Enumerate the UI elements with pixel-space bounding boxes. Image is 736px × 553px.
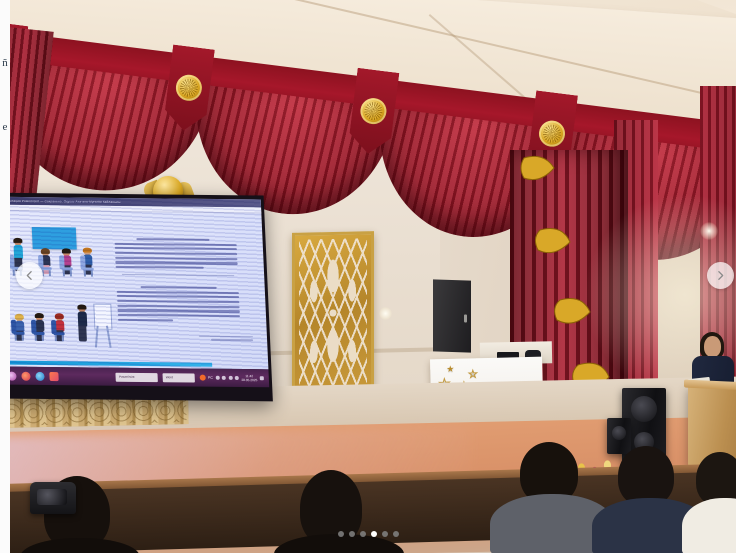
- chair: [80, 256, 94, 274]
- gold-medallion-icon: [359, 97, 388, 126]
- chair-leg: [55, 335, 57, 341]
- gold-star-icon: ★: [446, 365, 454, 374]
- chair-leg: [70, 270, 72, 276]
- figure-hair: [55, 313, 64, 319]
- chair-leg: [35, 335, 37, 341]
- taskbar-app-word[interactable]: Word: [163, 373, 195, 382]
- tray-network-icon[interactable]: [222, 376, 226, 380]
- gutter-text-fragment-1: ñ: [0, 58, 10, 69]
- slide-divider: [122, 274, 234, 276]
- lattice-ornament: [299, 238, 367, 387]
- clock-date: 28.05.2025: [241, 378, 257, 382]
- figure-legs: [78, 325, 87, 341]
- chair-leg: [42, 335, 44, 341]
- wall-lamp-icon: [379, 307, 392, 320]
- assistant-icon[interactable]: [21, 371, 30, 380]
- text-line: [199, 335, 253, 337]
- text-line: [141, 286, 217, 289]
- text-line: [115, 261, 237, 264]
- text-line: [118, 319, 173, 322]
- podium-top: [684, 380, 736, 391]
- search-icon[interactable]: [10, 371, 17, 380]
- text-line: [118, 314, 240, 317]
- figure-hair: [35, 313, 44, 318]
- text-line: [211, 339, 253, 341]
- figure-hair: [83, 248, 92, 253]
- chair-leg: [84, 271, 86, 277]
- stage-light-fixture: [30, 482, 76, 514]
- projector-screen: Презентация PowerPoint — Сохранено. Оқуш…: [10, 193, 273, 402]
- text-line: [115, 257, 237, 260]
- post-text-gutter: ñ e: [0, 0, 10, 553]
- chevron-left-icon: [23, 269, 36, 282]
- carousel-dot-5[interactable]: [382, 531, 388, 537]
- stage-door[interactable]: [433, 279, 471, 352]
- chair: [31, 320, 45, 338]
- figure-torso: [78, 311, 88, 326]
- chevron-right-icon: [714, 269, 727, 282]
- audience-shoulders: [20, 538, 140, 553]
- taskbar-clock[interactable]: 11:42 28.05.2025: [241, 374, 257, 383]
- gold-balloon-icon: [521, 156, 554, 179]
- tray-volume-icon[interactable]: [228, 376, 232, 380]
- carousel-dot-4[interactable]: [371, 531, 377, 537]
- tray-chevron-icon[interactable]: [215, 376, 219, 380]
- wall-lamp-icon: [700, 222, 718, 240]
- figure-hair: [13, 238, 22, 243]
- tray-pc-label: PC: [208, 375, 213, 380]
- chair-leg: [49, 270, 51, 276]
- carousel-dot-2[interactable]: [349, 531, 355, 537]
- speaker-driver-icon: [612, 426, 626, 440]
- audience-member: [280, 470, 410, 553]
- carousel-dot-3[interactable]: [360, 531, 366, 537]
- audience-head: [618, 446, 674, 506]
- illustration-bottom: [10, 299, 114, 356]
- ornamental-lattice-panel: [292, 231, 374, 395]
- text-line: [115, 243, 237, 246]
- figure-hair: [62, 248, 71, 253]
- carousel-dots[interactable]: [0, 531, 736, 537]
- slide-footer-bar: [10, 361, 212, 367]
- text-line: [117, 291, 239, 294]
- text-line: [117, 300, 239, 303]
- instagram-carousel-post: ñ e: [0, 0, 736, 553]
- carousel-prev-button[interactable]: [16, 262, 43, 289]
- text-line: [136, 238, 209, 241]
- text-line: [116, 266, 204, 269]
- chair-leg: [22, 335, 24, 341]
- gold-balloon-icon: [555, 299, 590, 324]
- tray-battery-icon[interactable]: [235, 376, 239, 380]
- tray-app-icon[interactable]: [199, 375, 205, 381]
- gold-balloon-icon: [535, 229, 570, 253]
- windows-taskbar[interactable]: PowerPoint Word PC 11:42 28.05.2025: [10, 367, 269, 388]
- flipchart-leg: [95, 326, 98, 348]
- figure-hair: [77, 304, 86, 309]
- slide-content: [10, 211, 262, 358]
- slide-signature: [199, 335, 253, 343]
- audience-member: [688, 452, 736, 553]
- chair: [51, 320, 65, 338]
- figure-hair: [41, 248, 50, 254]
- gold-medallion-icon: [537, 119, 566, 148]
- light-lens-icon: [37, 489, 67, 505]
- carousel-dot-1[interactable]: [338, 531, 344, 537]
- notification-icon[interactable]: [260, 376, 264, 380]
- audience-shoulders: [682, 498, 736, 553]
- carousel-next-button[interactable]: [707, 262, 734, 289]
- flipchart: [91, 304, 113, 346]
- chair-leg: [91, 271, 93, 277]
- speaker-head: [704, 336, 721, 357]
- carousel-dot-6[interactable]: [393, 531, 399, 537]
- file-explorer-icon[interactable]: [49, 372, 58, 381]
- chair: [59, 255, 73, 273]
- chair-leg: [62, 335, 64, 341]
- chair-leg: [15, 335, 17, 341]
- presentation-slide: Презентация PowerPoint — Сохранено. Оқуш…: [10, 197, 268, 370]
- chair: [11, 320, 25, 338]
- slide-paragraph-1: [114, 238, 238, 272]
- slide-paragraph-2: [116, 286, 240, 325]
- hall-photo: Презентация PowerPoint — Сохранено. Оқуш…: [10, 0, 736, 553]
- text-line: [115, 247, 237, 250]
- text-line: [115, 252, 237, 255]
- chair-leg: [13, 270, 15, 276]
- gutter-text-fragment-2: e: [0, 122, 10, 133]
- text-line: [118, 309, 240, 312]
- speaker-driver-icon: [631, 396, 657, 422]
- text-line: [117, 295, 239, 298]
- taskbar-app-powerpoint[interactable]: PowerPoint: [116, 372, 158, 381]
- edge-browser-icon[interactable]: [35, 371, 44, 380]
- system-tray[interactable]: PC 11:42 28.05.2025: [199, 373, 264, 382]
- text-line: [117, 305, 239, 308]
- gold-medallion-icon: [174, 73, 203, 102]
- chair-leg: [63, 270, 65, 276]
- gold-star-icon: ★: [468, 370, 477, 380]
- door-handle-icon: [464, 314, 467, 322]
